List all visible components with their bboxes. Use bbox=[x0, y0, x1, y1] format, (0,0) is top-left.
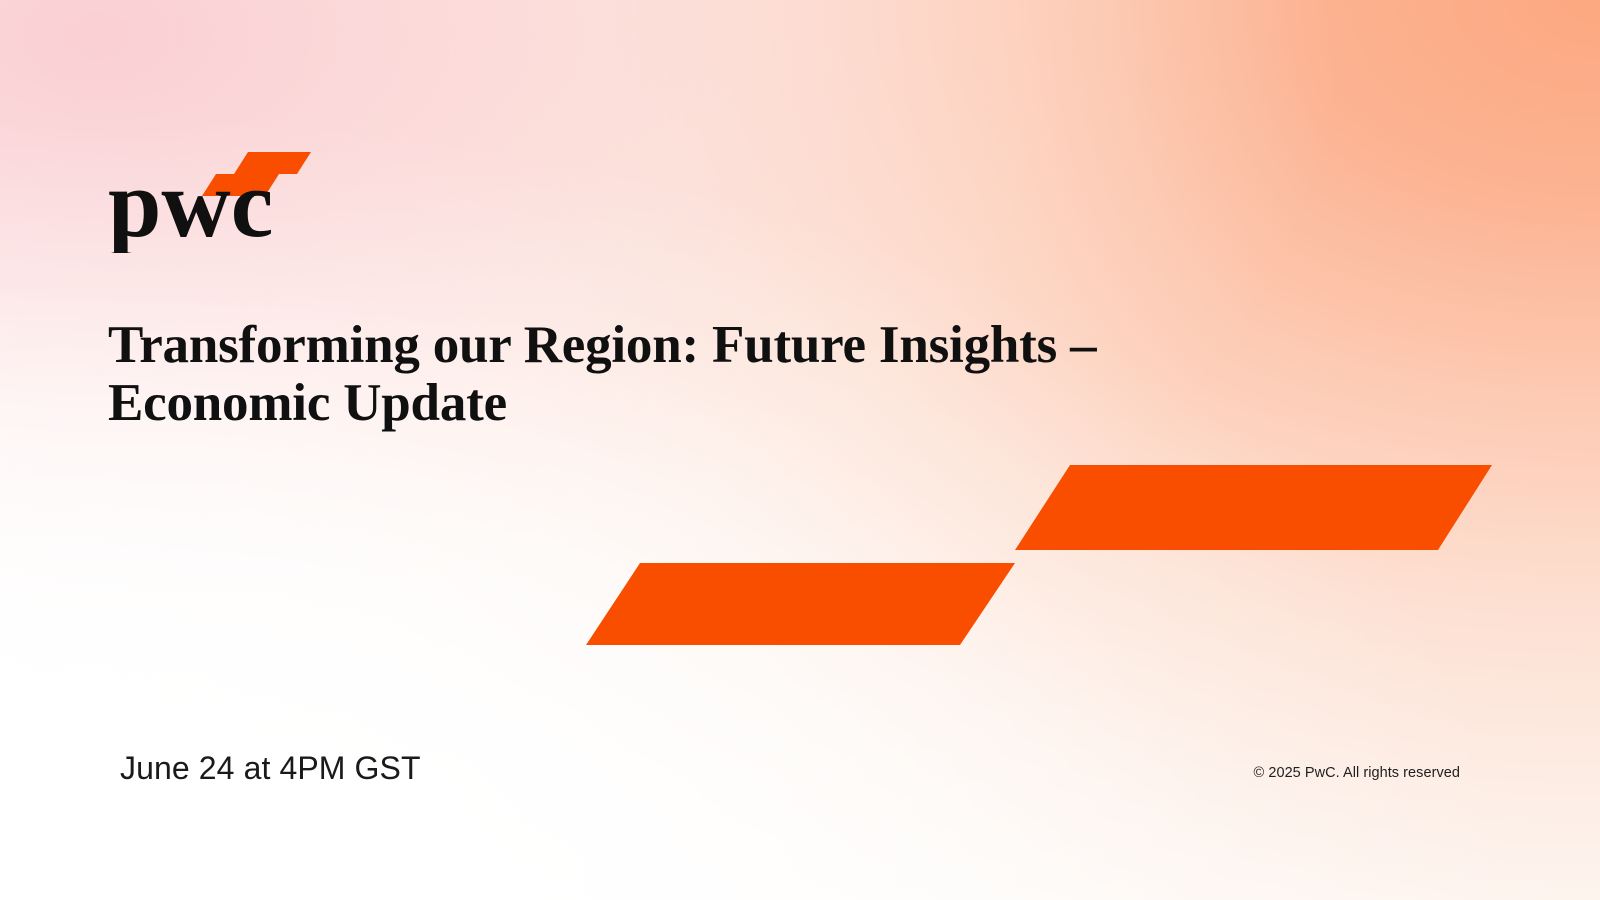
parallelogram-lower-left bbox=[586, 563, 1015, 645]
slide-content: pwc Transforming our Region: Future Insi… bbox=[0, 0, 1600, 900]
parallelogram-upper-right bbox=[1015, 465, 1492, 550]
pwc-wordmark-text: pwc bbox=[108, 150, 273, 253]
event-date-label: June 24 at 4PM GST bbox=[120, 750, 421, 787]
title-slide: pwc Transforming our Region: Future Insi… bbox=[0, 0, 1600, 900]
page-title: Transforming our Region: Future Insights… bbox=[108, 316, 1288, 433]
copyright-notice: © 2025 PwC. All rights reserved bbox=[1254, 765, 1460, 781]
hero-step-graphic bbox=[560, 440, 1510, 665]
pwc-logo: pwc bbox=[108, 138, 318, 253]
